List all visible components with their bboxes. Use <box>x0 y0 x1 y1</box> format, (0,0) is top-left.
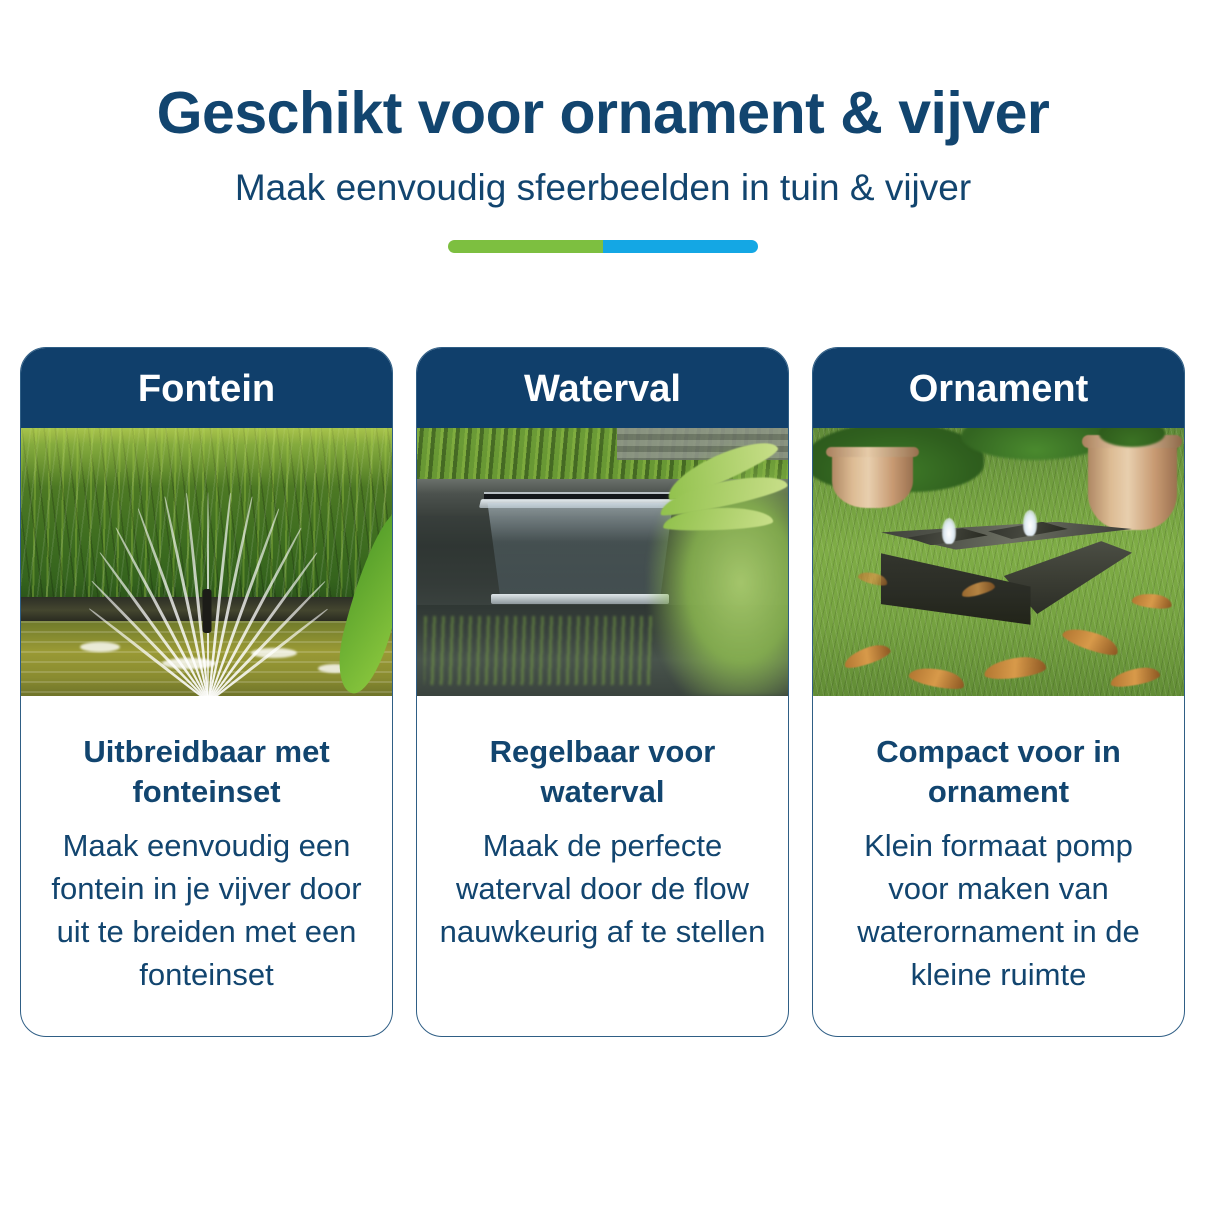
water-reflection <box>424 616 654 686</box>
terracotta-pot-left <box>832 449 914 508</box>
page-header: Geschikt voor ornament & vijver Maak een… <box>0 0 1206 253</box>
page-subtitle: Maak eenvoudig sfeerbeelden in tuin & vi… <box>0 168 1206 209</box>
card-text-waterval: Maak de perfecte waterval door de flow n… <box>437 825 768 953</box>
granite-water-ornament <box>865 522 1132 629</box>
page-title: Geschikt voor ornament & vijver <box>0 82 1206 146</box>
card-body-fontein: Uitbreidbaar met fonteinset Maak eenvoud… <box>21 696 392 1036</box>
feature-card-waterval[interactable]: Waterval Regelbaar voor waterval Maak de… <box>416 347 789 1037</box>
terracotta-pot-right <box>1088 439 1177 530</box>
water-splash <box>251 648 297 658</box>
card-text-fontein: Maak eenvoudig een fontein in je vijver … <box>41 825 372 996</box>
feature-card-fontein[interactable]: Fontein <box>20 347 393 1037</box>
card-body-waterval: Regelbaar voor waterval Maak de perfecte… <box>417 696 788 1036</box>
card-tab-label-ornament: Ornament <box>813 348 1184 428</box>
card-image-fontein <box>21 428 392 696</box>
card-heading-waterval: Regelbaar voor waterval <box>437 732 768 811</box>
card-tab-label-waterval: Waterval <box>417 348 788 428</box>
water-jet-icon <box>1023 510 1037 536</box>
divider-green-segment <box>448 240 603 253</box>
card-image-waterval <box>417 428 788 696</box>
card-body-ornament: Compact voor in ornament Klein formaat p… <box>813 696 1184 1036</box>
grass-highlight <box>21 428 392 487</box>
feature-card-ornament[interactable]: Ornament <box>812 347 1185 1037</box>
card-tab-label-fontein: Fontein <box>21 348 392 428</box>
accent-divider <box>448 240 758 253</box>
water-jet-icon <box>942 518 956 544</box>
waterfall-base <box>491 594 669 604</box>
card-heading-fontein: Uitbreidbaar met fonteinset <box>41 732 372 811</box>
water-sheet <box>487 503 673 599</box>
card-text-ornament: Klein formaat pomp voor maken van watero… <box>833 825 1164 996</box>
divider-blue-segment <box>603 240 758 253</box>
card-heading-ornament: Compact voor in ornament <box>833 732 1164 811</box>
ornament-front-face <box>881 545 1031 624</box>
fountain-nozzle <box>202 589 211 633</box>
pot-rim <box>826 447 919 458</box>
feature-cards-row: Fontein <box>20 347 1186 1037</box>
infographic-page: Geschikt voor ornament & vijver Maak een… <box>0 0 1206 1206</box>
card-image-ornament <box>813 428 1184 696</box>
divider-wrapper <box>0 240 1206 253</box>
